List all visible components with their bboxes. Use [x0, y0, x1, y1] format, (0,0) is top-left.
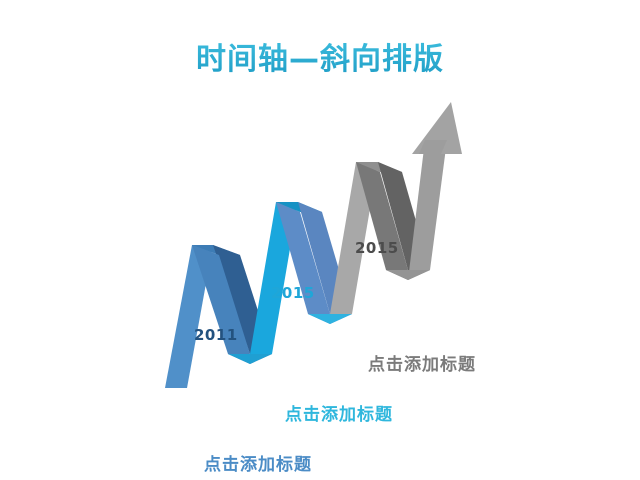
milestone-3-caption[interactable]: 点击添加标题	[368, 350, 476, 375]
segment-3-valley-fillet	[308, 314, 352, 324]
segment-2-valley-fillet	[228, 354, 272, 364]
milestone-1-year: 2011	[194, 326, 238, 344]
segment-1-blue[interactable]	[165, 245, 272, 388]
arrow-shaft	[408, 140, 447, 280]
arrow-valley-fillet	[386, 270, 430, 280]
milestone-2-caption[interactable]: 点击添加标题	[285, 400, 393, 425]
timeline-graphic: 2011 2015 2015 点击添加标题 点击添加标题 点击添加标题	[0, 92, 640, 422]
slide-canvas: 时间轴—斜向排版	[0, 0, 640, 480]
milestone-1-caption[interactable]: 点击添加标题	[204, 450, 312, 475]
milestone-3-year: 2015	[355, 239, 399, 257]
milestone-2-year: 2015	[271, 284, 315, 302]
page-title: 时间轴—斜向排版	[0, 34, 640, 78]
